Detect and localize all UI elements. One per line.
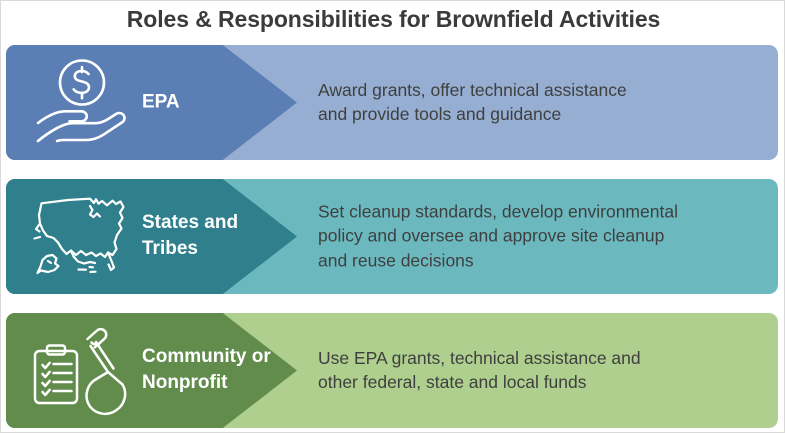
- row-description-states-and-tribes: Set cleanup standards, develop environme…: [318, 199, 768, 274]
- role-row-epa: EPA Award grants, offer technical assist…: [6, 45, 778, 160]
- role-row-states-and-tribes: States and Tribes Set cleanup standards,…: [6, 179, 778, 294]
- infographic-canvas: Roles & Responsibilities for Brownfield …: [0, 0, 785, 433]
- row-label-epa: EPA: [142, 89, 282, 116]
- row-description-epa: Award grants, offer technical assistance…: [318, 78, 768, 128]
- row-label-community-or-nonprofit: Community or Nonprofit: [142, 344, 282, 398]
- page-title: Roles & Responsibilities for Brownfield …: [1, 6, 785, 33]
- hand-holding-dollar-coin-icon: [28, 55, 136, 150]
- row-label-states-and-tribes: States and Tribes: [142, 210, 282, 264]
- row-description-community-or-nonprofit: Use EPA grants, technical assistance and…: [318, 346, 768, 396]
- united-states-map-icon: [28, 189, 136, 284]
- role-row-community-or-nonprofit: Community or Nonprofit Use EPA grants, t…: [6, 313, 778, 428]
- clipboard-and-shovel-icon: [28, 323, 136, 418]
